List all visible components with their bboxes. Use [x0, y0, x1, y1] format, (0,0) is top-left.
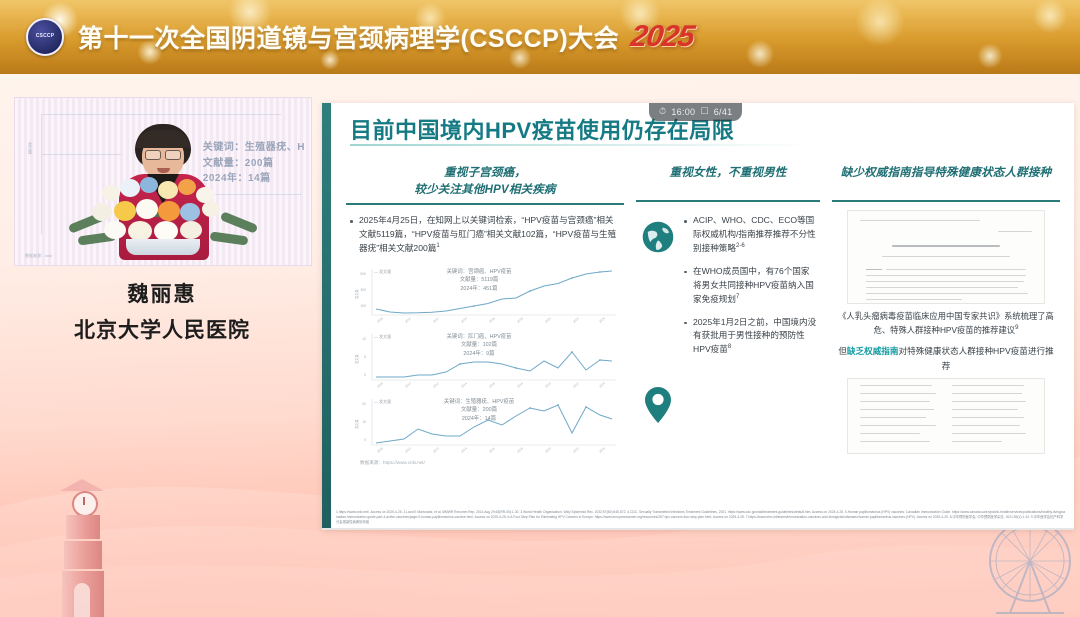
- svg-text:2018: 2018: [516, 316, 524, 324]
- map-pin-icon: [643, 386, 673, 424]
- chart-genital-warts: — 发文量 关键词：生殖器疣、HPV疫苗 文献量：200篇 2024年：14篇 …: [348, 395, 622, 457]
- glasses-icon: [145, 150, 181, 158]
- svg-text:发文量: 发文量: [354, 354, 359, 364]
- column3-heading: 缺少权威指南指导特殊健康状态人群接种: [826, 165, 1066, 195]
- clock-icon: ⏱: [659, 106, 666, 117]
- svg-text:发文量: 发文量: [354, 289, 359, 299]
- chart1-legend: — 发文量: [374, 269, 391, 275]
- slide-columns: 重视子宫颈癌， 较少关注其他HPV相关疾病 2025年4月25日，在知网上以关键…: [340, 165, 1066, 465]
- chart-cervical-cancer: — 发文量 关键词：宫颈癌、HPV疫苗 文献量：5119篇 2024年：451篇…: [348, 265, 622, 327]
- svg-text:2010: 2010: [404, 381, 412, 389]
- svg-text:2016: 2016: [488, 316, 496, 324]
- svg-text:2012: 2012: [432, 381, 440, 389]
- svg-text:2020: 2020: [544, 381, 552, 389]
- list-item: 在WHO成员国中，有76个国家将男女共同接种HPV疫苗纳入国家免疫规划7: [682, 265, 818, 307]
- charts-source-note: 数据来源：https://www.cnki.net/: [348, 460, 622, 466]
- svg-text:2014: 2014: [460, 316, 468, 324]
- csccp-logo-icon: CSCCP: [26, 18, 64, 56]
- svg-text:2010: 2010: [404, 446, 412, 454]
- chart3-legend: — 发文量: [374, 399, 391, 405]
- list-item: ACIP、WHO、CDC、ECO等国际权威机构/指南推荐推荐不分性别接种策略2-…: [682, 214, 818, 256]
- svg-text:2024: 2024: [598, 316, 606, 324]
- pin-icon-wrap: [638, 382, 678, 428]
- svg-text:2018: 2018: [516, 446, 524, 454]
- svg-text:2024: 2024: [598, 381, 606, 389]
- svg-text:0: 0: [364, 373, 366, 377]
- svg-text:500: 500: [360, 272, 366, 276]
- list-item: 2025年4月25日，在知网上以关键词检索，“HPV疫苗与宫颈癌”相关文献511…: [348, 214, 622, 256]
- column2-bullets-bottom: 2025年1月2日之前，中国境内没有获批用于男性接种的预防性HPV疫苗8: [682, 316, 818, 358]
- consensus-document-thumbnail-bottom: [847, 378, 1045, 454]
- column1-heading: 重视子宫颈癌， 较少关注其他HPV相关疾病: [340, 165, 630, 198]
- svg-text:2022: 2022: [572, 381, 580, 389]
- event-year: 2025: [629, 20, 697, 54]
- chart2-note: 关键词：肛门癌、HPV疫苗 文献量：102篇 2024年：9篇: [420, 333, 538, 358]
- slide-accent-bar: [322, 103, 331, 530]
- svg-text:2008: 2008: [376, 381, 384, 389]
- flower-arrangement: [68, 177, 258, 255]
- svg-text:2018: 2018: [516, 381, 524, 389]
- slide-timer-badge: ⏱ 16:00 ☐ 6/41: [649, 103, 742, 121]
- globe-icon: [641, 220, 675, 254]
- svg-text:2022: 2022: [572, 446, 580, 454]
- svg-text:2014: 2014: [460, 381, 468, 389]
- publication-charts: — 发文量 关键词：宫颈癌、HPV疫苗 文献量：5119篇 2024年：451篇…: [348, 265, 622, 466]
- event-title: 第十一次全国阴道镜与宫颈病理学(CSCCP)大会: [78, 19, 619, 55]
- svg-text:2012: 2012: [432, 446, 440, 454]
- column2-bullets-top: ACIP、WHO、CDC、ECO等国际权威机构/指南推荐推荐不分性别接种策略2-…: [682, 214, 818, 307]
- tower-clock-icon: [72, 491, 98, 517]
- column-gender-focus: 重视女性，不重视男性: [630, 165, 826, 465]
- svg-text:发文量: 发文量: [354, 419, 359, 429]
- svg-text:2012: 2012: [432, 316, 440, 324]
- column2-heading: 重视女性，不重视男性: [630, 165, 826, 195]
- chart-anal-cancer: — 发文量 关键词：肛门癌、HPV疫苗 文献量：102篇 2024年：9篇 12: [348, 330, 622, 392]
- column3-highlight: 缺乏权威指南: [847, 346, 899, 356]
- svg-text:10: 10: [362, 420, 366, 424]
- svg-text:2014: 2014: [460, 446, 468, 454]
- svg-text:100: 100: [360, 304, 366, 308]
- svg-text:0: 0: [364, 438, 366, 442]
- svg-text:2008: 2008: [376, 446, 384, 454]
- svg-text:2010: 2010: [404, 316, 412, 324]
- presentation-screen: CSCCP 第十一次全国阴道镜与宫颈病理学(CSCCP)大会 2025 发文量 …: [0, 0, 1080, 617]
- clock-tower-illustration: [52, 479, 120, 617]
- page-indicator: 6/41: [714, 107, 733, 117]
- svg-text:2022: 2022: [572, 316, 580, 324]
- elapsed-time: 16:00: [671, 107, 695, 117]
- chart1-note: 关键词：宫颈癌、HPV疫苗 文献量：5119篇 2024年：451篇: [420, 268, 538, 293]
- svg-text:2024: 2024: [598, 446, 606, 454]
- speaker-organization: 北京大学人民医院: [14, 314, 310, 344]
- svg-text:20: 20: [362, 402, 366, 406]
- event-banner: CSCCP 第十一次全国阴道镜与宫颈病理学(CSCCP)大会 2025: [0, 0, 1080, 74]
- column3-text-secondary: 但缺乏权威指南对特殊健康状态人群接种HPV疫苗进行推荐: [836, 344, 1056, 373]
- speaker-panel: 发文量 关键词：生殖器疣、H 文献量：200篇 2024年：14篇: [14, 97, 310, 344]
- video-corner-caption: 数据来源：cnki: [25, 253, 52, 259]
- svg-text:2020: 2020: [544, 446, 552, 454]
- list-item: 2025年1月2日之前，中国境内没有获批用于男性接种的预防性HPV疫苗8: [682, 316, 818, 358]
- svg-text:300: 300: [360, 288, 366, 292]
- chart3-note: 关键词：生殖器疣、HPV疫苗 文献量：200篇 2024年：14篇: [420, 398, 538, 423]
- slide-footer-divider: [322, 528, 1074, 530]
- column1-bullets: 2025年4月25日，在知网上以关键词检索，“HPV疫苗与宫颈癌”相关文献511…: [348, 214, 622, 256]
- globe-icon-wrap: [638, 214, 678, 260]
- column3-text-primary: 《人乳头瘤病毒疫苗临床应用中国专家共识》系统梳理了高危、特殊人群接种HPV疫苗的…: [836, 310, 1056, 337]
- svg-text:12: 12: [362, 337, 366, 341]
- svg-text:2016: 2016: [488, 381, 496, 389]
- logo-text: CSCCP: [36, 34, 55, 40]
- video-axis-text: 发文量: [27, 142, 33, 154]
- slide-references: 1.https://www.cnki.net/. Access on 2025-…: [336, 510, 1066, 525]
- speaker-video-feed[interactable]: 发文量 关键词：生殖器疣、H 文献量：200篇 2024年：14篇: [14, 97, 312, 266]
- column-guideline-gap: 缺少权威指南指导特殊健康状态人群接种: [826, 165, 1066, 465]
- title-underline: [350, 144, 810, 146]
- chart2-legend: — 发文量: [374, 334, 391, 340]
- consensus-document-thumbnail-top: [847, 210, 1045, 304]
- page-icon: ☐: [700, 106, 708, 117]
- svg-text:2016: 2016: [488, 446, 496, 454]
- speaker-name: 魏丽惠: [14, 278, 310, 308]
- svg-text:2008: 2008: [376, 316, 384, 324]
- slide-container[interactable]: ⏱ 16:00 ☐ 6/41 目前中国境内HPV疫苗使用仍存在局限 重视子宫颈癌…: [322, 103, 1074, 530]
- svg-text:2020: 2020: [544, 316, 552, 324]
- svg-text:6: 6: [364, 355, 366, 359]
- column-cervical-cancer-focus: 重视子宫颈癌， 较少关注其他HPV相关疾病 2025年4月25日，在知网上以关键…: [340, 165, 630, 465]
